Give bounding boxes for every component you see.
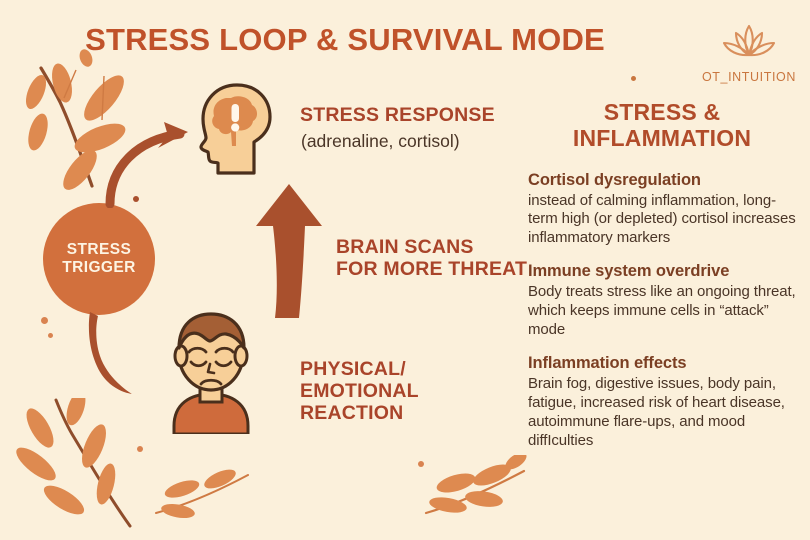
info-block-heading: Inflammation effects [528,354,796,373]
head-brain-alert-icon [196,82,278,181]
physical-emotional-reaction-label: PHYSICAL/ EMOTIONAL REACTION [300,358,419,425]
panel-title-line1: STRESS & [528,100,796,126]
stress-trigger-label-line2: TRIGGER [62,259,135,277]
info-block-heading: Immune system overdrive [528,262,796,281]
sad-person-icon [152,308,270,439]
reaction-label-line1: PHYSICAL/ [300,358,419,380]
page-title: STRESS LOOP & SURVIVAL MODE [0,22,690,58]
stress-trigger-node: STRESS TRIGGER [43,203,155,315]
brain-scans-label-line2: FOR MORE THREAT [336,258,527,280]
info-block-immune: Immune system overdrive Body treats stre… [528,262,796,340]
panel-title: STRESS & INFLAMMATION [528,100,796,152]
decor-dot [631,76,636,81]
lotus-icon [690,22,808,67]
reaction-label-line2: EMOTIONAL [300,380,419,402]
infographic-canvas: STRESS LOOP & SURVIVAL MODE OT_INTUITION… [0,0,810,540]
brain-scans-label-line1: BRAIN SCANS [336,236,527,258]
stress-inflammation-panel: STRESS & INFLAMMATION Cortisol dysregula… [528,100,796,450]
info-block-heading: Cortisol dysregulation [528,171,796,190]
brain-scans-label: BRAIN SCANS FOR MORE THREAT [336,236,527,280]
info-block-body: Brain fog, digestive issues, body pain, … [528,375,796,451]
info-block-body: Body treats stress like an ongoing threa… [528,283,796,340]
stress-loop-diagram: STRESS TRIGGER STRESS RESPONSE (adrenali… [0,70,520,540]
info-block-inflammation: Inflammation effects Brain fog, digestiv… [528,354,796,451]
info-block-cortisol: Cortisol dysregulation instead of calmin… [528,171,796,249]
brand-name: OT_INTUITION [690,70,808,84]
reaction-label-line3: REACTION [300,402,419,424]
brand-logo: OT_INTUITION [690,22,808,84]
stress-trigger-label-line1: STRESS [67,241,131,259]
panel-title-line2: INFLAMMATION [528,126,796,152]
info-block-body: instead of calming inflammation, long-te… [528,192,796,249]
curved-arrow-up-right-icon [96,118,202,213]
stress-response-label: STRESS RESPONSE [300,104,495,126]
curved-arc-bottom-left-icon [78,310,150,405]
stress-response-sublabel: (adrenaline, cortisol) [301,131,460,152]
up-arrow-icon [253,182,325,323]
